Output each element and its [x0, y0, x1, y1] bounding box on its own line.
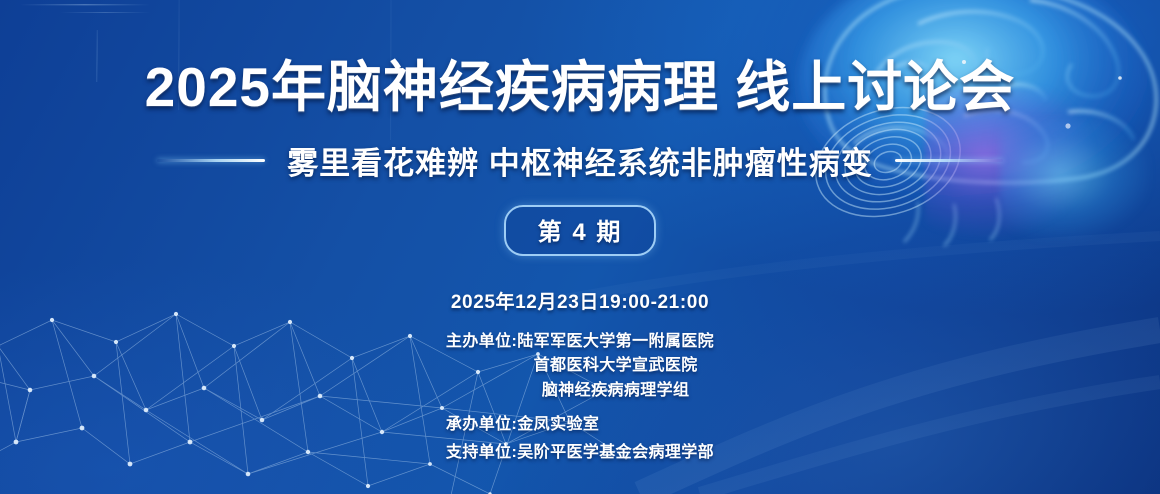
organizer-values: 金凤实验室 — [517, 413, 599, 437]
organizer-value: 首都医科大学宣武医院 — [534, 354, 698, 378]
divider-line-right-icon — [895, 159, 1003, 162]
page-title: 2025年脑神经疾病病理 线上讨论会 — [145, 42, 1016, 122]
subtitle-row: 雾里看花难辨 中枢神经系统非肿瘤性病变 — [157, 138, 1003, 183]
organizer-value: 脑神经疾病病理学组 — [542, 379, 690, 403]
organizer-list: 主办单位: 陆军军医大学第一附属医院 首都医科大学宣武医院 脑神经疾病病理学组 … — [446, 330, 714, 466]
organizer-values: 陆军军医大学第一附属医院 首都医科大学宣武医院 脑神经疾病病理学组 — [517, 330, 714, 403]
organizer-values: 吴阶平医学基金会病理学部 — [517, 441, 714, 465]
organizer-label: 承办单位: — [446, 413, 517, 437]
organizer-value: 金凤实验室 — [517, 413, 599, 437]
organizer-label: 支持单位: — [446, 441, 517, 465]
organizer-value: 陆军军医大学第一附属医院 — [517, 330, 714, 354]
organizer-row-host: 主办单位: 陆军军医大学第一附属医院 首都医科大学宣武医院 脑神经疾病病理学组 — [446, 330, 714, 403]
poster-content: 2025年脑神经疾病病理 线上讨论会 雾里看花难辨 中枢神经系统非肿瘤性病变 第… — [0, 0, 1160, 494]
issue-badge: 第 4 期 — [504, 205, 656, 256]
event-datetime: 2025年12月23日19:00-21:00 — [451, 287, 709, 314]
organizer-label: 主办单位: — [446, 330, 517, 403]
divider-line-left-icon — [157, 159, 265, 162]
subtitle: 雾里看花难辨 中枢神经系统非肿瘤性病变 — [287, 138, 873, 183]
organizer-row-supporter: 支持单位: 吴阶平医学基金会病理学部 — [446, 441, 714, 465]
organizer-row-coorganizer: 承办单位: 金凤实验室 — [446, 413, 599, 437]
webinar-poster: 2025年脑神经疾病病理 线上讨论会 雾里看花难辨 中枢神经系统非肿瘤性病变 第… — [0, 0, 1160, 494]
organizer-value: 吴阶平医学基金会病理学部 — [517, 441, 714, 465]
